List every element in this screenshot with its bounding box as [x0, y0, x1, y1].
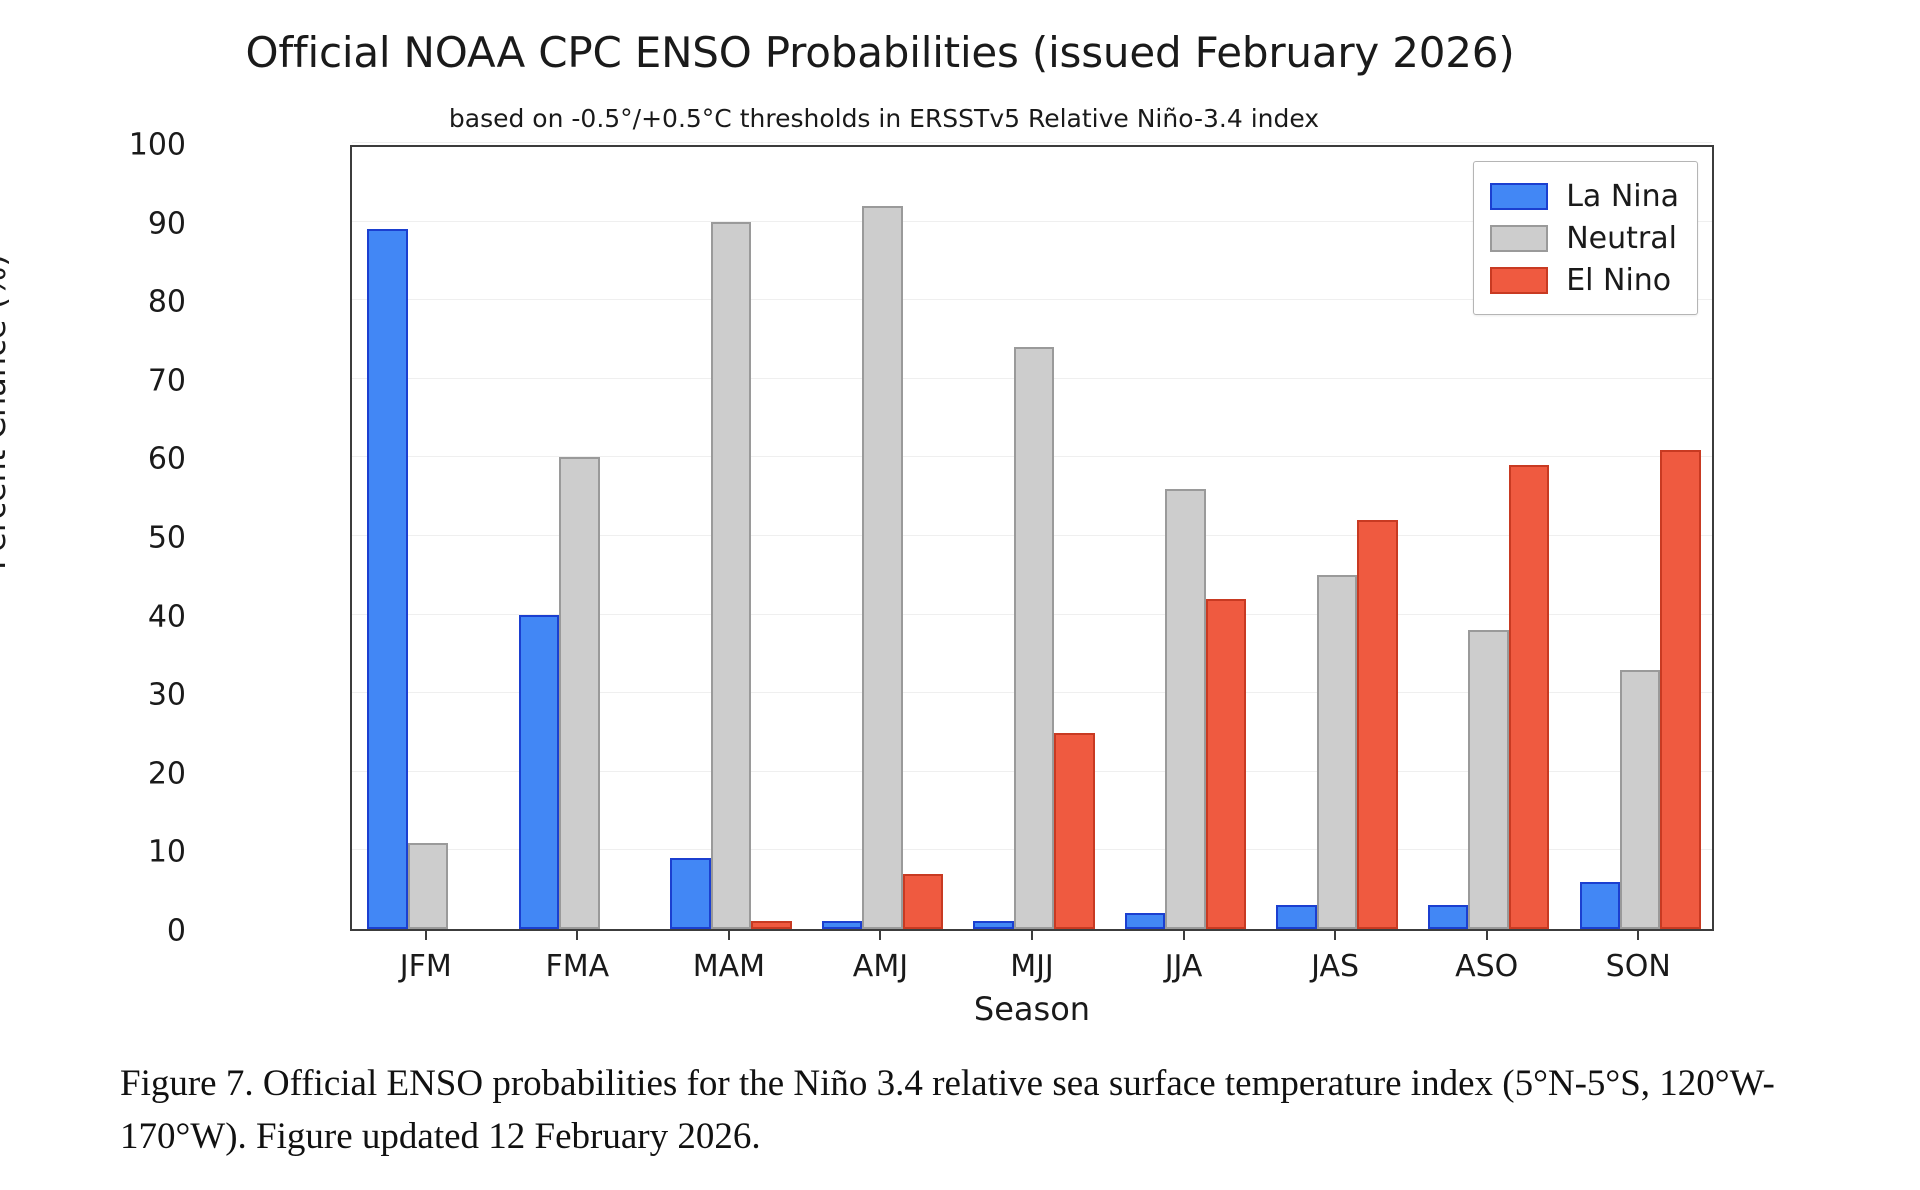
- x-tick-mark: [728, 931, 730, 940]
- bar-mam-lanina: [670, 858, 710, 929]
- bar-jja-elnino: [1206, 599, 1246, 929]
- bar-aso-elnino: [1509, 465, 1549, 929]
- y-tick-label: 80: [36, 285, 186, 320]
- y-tick-label: 0: [36, 914, 186, 949]
- x-tick-mark: [1183, 931, 1185, 940]
- bar-amj-elnino: [903, 874, 943, 929]
- bar-mam-neutral: [711, 222, 751, 929]
- legend-item-lanina[interactable]: La Nina: [1490, 175, 1679, 217]
- chart-subtitle: based on -0.5°/+0.5°C thresholds in ERSS…: [0, 104, 1768, 133]
- legend-label: El Nino: [1566, 263, 1671, 298]
- bar-jfm-neutral: [408, 843, 448, 929]
- legend-swatch-elnino: [1490, 267, 1548, 294]
- bar-jja-neutral: [1165, 489, 1205, 929]
- bar-jfm-lanina: [367, 229, 407, 929]
- x-tick-mark: [1334, 931, 1336, 940]
- y-tick-label: 30: [36, 678, 186, 713]
- x-tick-label: SON: [1538, 949, 1738, 984]
- y-tick-label: 60: [36, 442, 186, 477]
- x-tick-mark: [1637, 931, 1639, 940]
- bar-son-elnino: [1660, 450, 1700, 929]
- bar-jas-neutral: [1317, 575, 1357, 929]
- bar-amj-lanina: [822, 921, 862, 929]
- enso-probability-figure: Official NOAA CPC ENSO Probabilities (is…: [0, 0, 1920, 1190]
- gridline: [352, 142, 1712, 143]
- x-tick-mark: [576, 931, 578, 940]
- figure-caption: Figure 7. Official ENSO probabilities fo…: [120, 1058, 1820, 1163]
- legend-label: Neutral: [1566, 221, 1677, 256]
- chart-title: Official NOAA CPC ENSO Probabilities (is…: [0, 28, 1760, 77]
- bar-son-lanina: [1580, 882, 1620, 929]
- bar-fma-lanina: [519, 615, 559, 929]
- bar-aso-neutral: [1468, 630, 1508, 929]
- legend-item-elnino[interactable]: El Nino: [1490, 259, 1679, 301]
- bar-jas-lanina: [1276, 905, 1316, 929]
- x-tick-mark: [879, 931, 881, 940]
- legend-swatch-lanina: [1490, 183, 1548, 210]
- y-tick-label: 70: [36, 363, 186, 398]
- chart-legend[interactable]: La NinaNeutralEl Nino: [1473, 161, 1698, 315]
- bar-jas-elnino: [1357, 520, 1397, 929]
- bar-son-neutral: [1620, 670, 1660, 929]
- y-axis-title: Percent Chance (%): [0, 112, 13, 712]
- legend-label: La Nina: [1566, 179, 1679, 214]
- x-axis-title: Season: [350, 990, 1714, 1028]
- y-tick-label: 10: [36, 835, 186, 870]
- x-tick-mark: [1031, 931, 1033, 940]
- bar-aso-lanina: [1428, 905, 1468, 929]
- legend-item-neutral[interactable]: Neutral: [1490, 217, 1679, 259]
- y-tick-label: 90: [36, 206, 186, 241]
- plot-area: La NinaNeutralEl Nino: [350, 145, 1714, 931]
- y-tick-label: 40: [36, 599, 186, 634]
- y-tick-label: 50: [36, 521, 186, 556]
- bar-jja-lanina: [1125, 913, 1165, 929]
- bar-mjj-neutral: [1014, 347, 1054, 929]
- bar-mjj-elnino: [1054, 733, 1094, 930]
- bar-amj-neutral: [862, 206, 902, 929]
- bar-mam-elnino: [751, 921, 791, 929]
- x-tick-mark: [425, 931, 427, 940]
- bar-mjj-lanina: [973, 921, 1013, 929]
- x-tick-mark: [1486, 931, 1488, 940]
- y-tick-label: 20: [36, 756, 186, 791]
- legend-swatch-neutral: [1490, 225, 1548, 252]
- bar-fma-neutral: [559, 457, 599, 929]
